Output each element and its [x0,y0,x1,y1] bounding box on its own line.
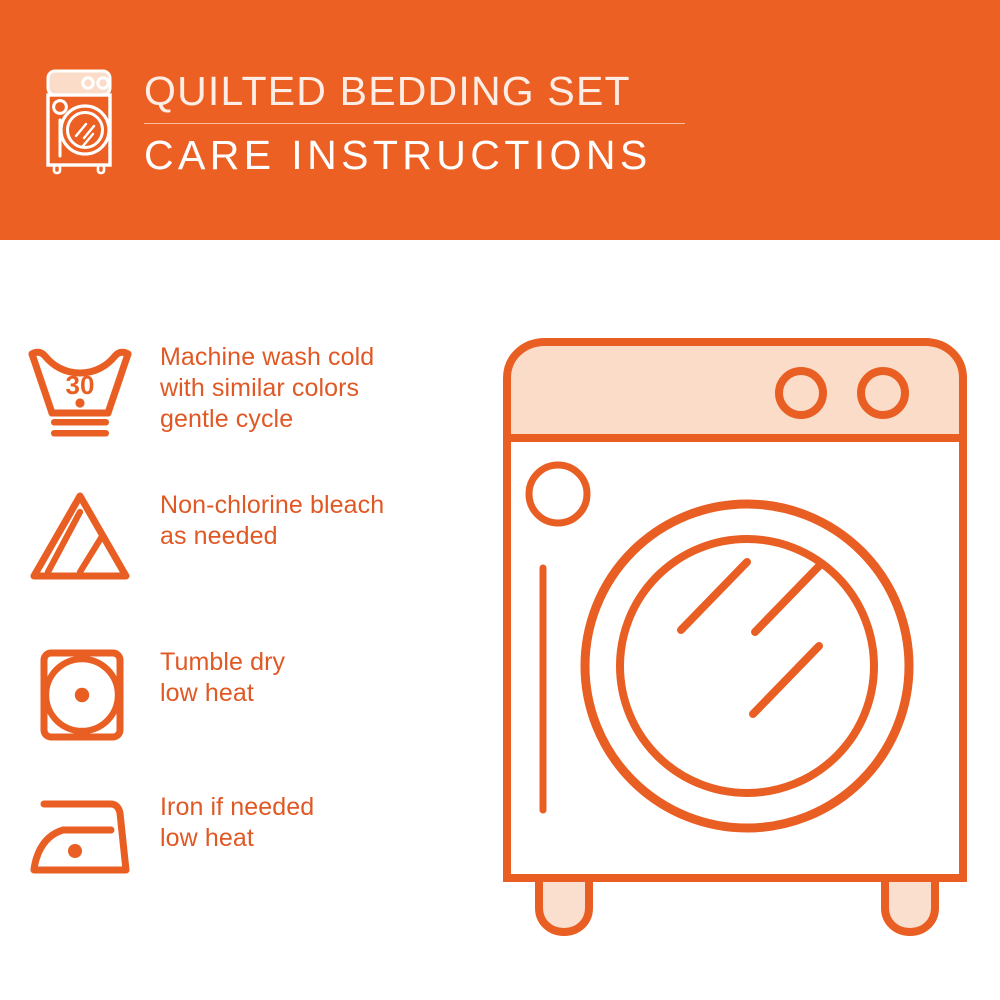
instruction-row-iron: Iron if needed low heat [0,790,500,882]
leg-right [885,878,935,932]
instruction-line: Machine wash cold [160,342,500,373]
iron-low-heat-icon [0,790,160,882]
control-panel [507,342,963,438]
instruction-line: low heat [160,678,500,709]
instruction-text-bleach: Non-chlorine bleach as needed [160,488,500,552]
title-divider [144,123,685,124]
infographic-page: QUILTED BEDDING SET CARE INSTRUCTIONS 30 [0,0,1000,1000]
header-banner: QUILTED BEDDING SET CARE INSTRUCTIONS [0,0,1000,240]
instruction-line: Non-chlorine bleach [160,490,500,521]
page-subtitle: CARE INSTRUCTIONS [144,130,704,180]
instruction-line: Iron if needed [160,792,500,823]
front-load-washing-machine-illustration [495,330,975,940]
instruction-row-tumble-dry: Tumble dry low heat [0,645,500,745]
tumble-dry-low-heat-icon [0,645,160,745]
instruction-text-wash: Machine wash cold with similar colors ge… [160,340,500,435]
instruction-text-tumble-dry: Tumble dry low heat [160,645,500,709]
instruction-line: as needed [160,521,500,552]
leg-left [539,878,589,932]
wash-tub-30-gentle-icon: 30 [0,340,160,444]
washing-machine-icon [44,68,122,176]
instruction-line: low heat [160,823,500,854]
instruction-line: gentle cycle [160,404,500,435]
instruction-text-iron: Iron if needed low heat [160,790,500,854]
instruction-line: Tumble dry [160,647,500,678]
page-title: QUILTED BEDDING SET [144,66,704,116]
header-text-block: QUILTED BEDDING SET CARE INSTRUCTIONS [144,66,704,180]
instructions-list: 30 Machine wash cold with similar colors… [0,240,500,1000]
instruction-line: with similar colors [160,373,500,404]
instruction-row-bleach: Non-chlorine bleach as needed [0,488,500,584]
triangle-non-chlorine-bleach-icon [0,488,160,584]
instruction-row-wash: 30 Machine wash cold with similar colors… [0,340,500,444]
wash-temperature-label: 30 [66,370,95,400]
